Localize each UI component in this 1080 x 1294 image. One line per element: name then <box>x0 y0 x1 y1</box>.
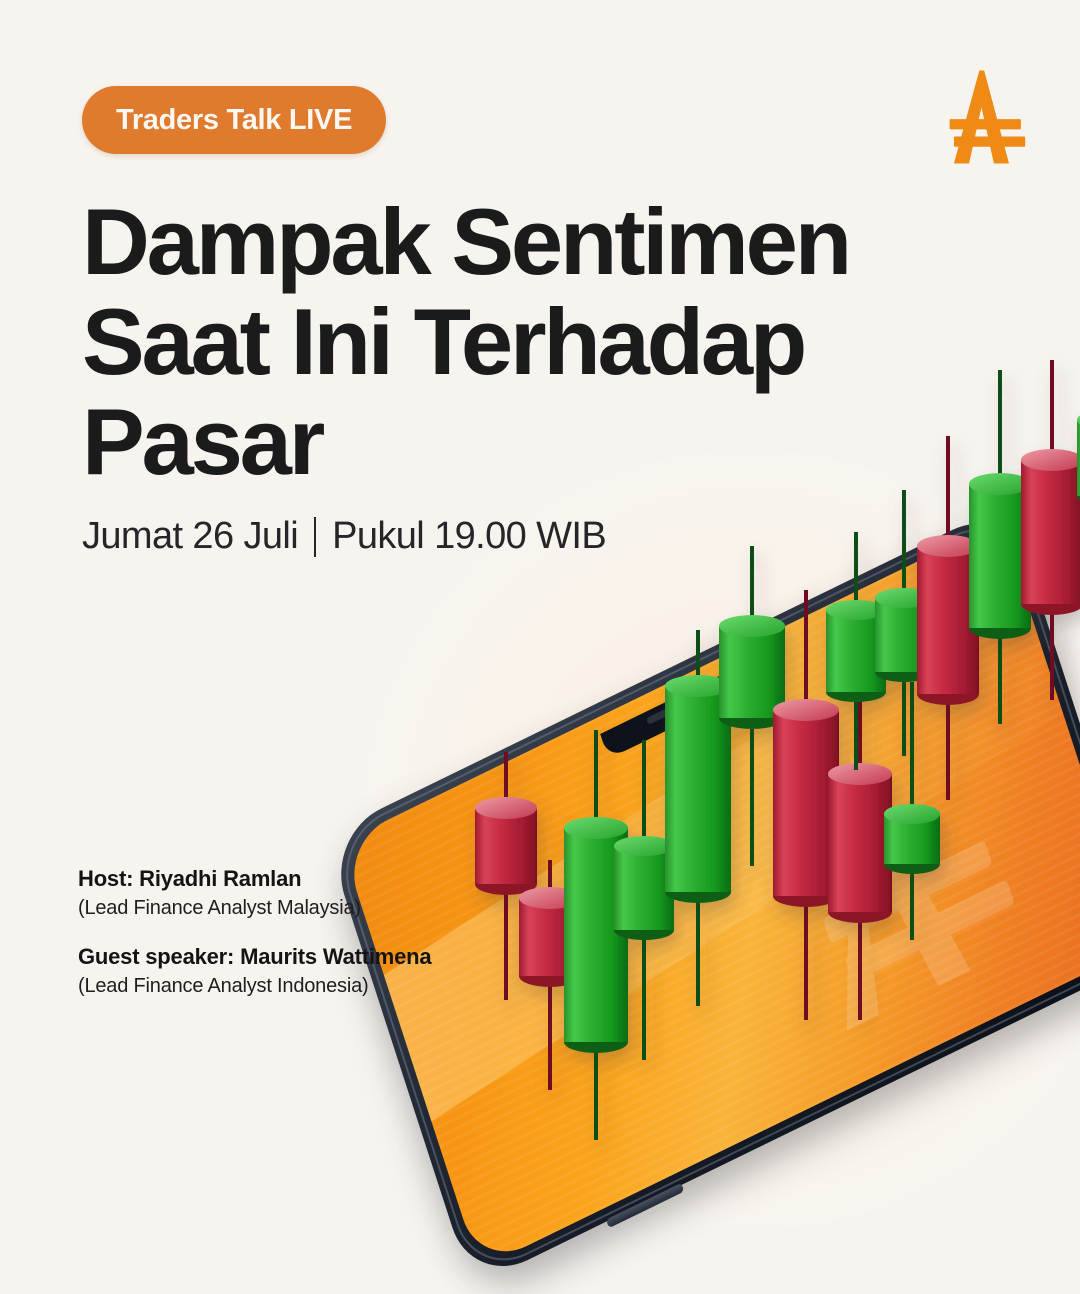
live-badge-label: Traders Talk LIVE <box>116 104 352 137</box>
credit-host-role: (Lead Finance Analyst Malaysia) <box>78 897 431 920</box>
credit-guest-role: (Lead Finance Analyst Indonesia) <box>78 975 431 998</box>
live-badge[interactable]: Traders Talk LIVE <box>82 86 386 154</box>
brand-a-monogram-icon <box>928 62 1036 172</box>
credit-guest: Guest speaker: Maurits Wattimena (Lead F… <box>78 944 431 998</box>
candle-9 <box>884 682 940 940</box>
poster-canvas: Traders Talk LIVE Dampak Sentimen Saat I… <box>0 0 1080 1080</box>
credits-block: Host: Riyadhi Ramlan (Lead Finance Analy… <box>78 866 431 998</box>
credit-host-name: Host: Riyadhi Ramlan <box>78 866 431 892</box>
credit-guest-name: Guest speaker: Maurits Wattimena <box>78 944 431 970</box>
candle-14 <box>1021 360 1080 700</box>
credit-host: Host: Riyadhi Ramlan (Lead Finance Analy… <box>78 866 431 920</box>
schedule-date: Jumat 26 Juli <box>82 515 298 558</box>
headline-line-1: Dampak Sentimen <box>82 192 842 292</box>
